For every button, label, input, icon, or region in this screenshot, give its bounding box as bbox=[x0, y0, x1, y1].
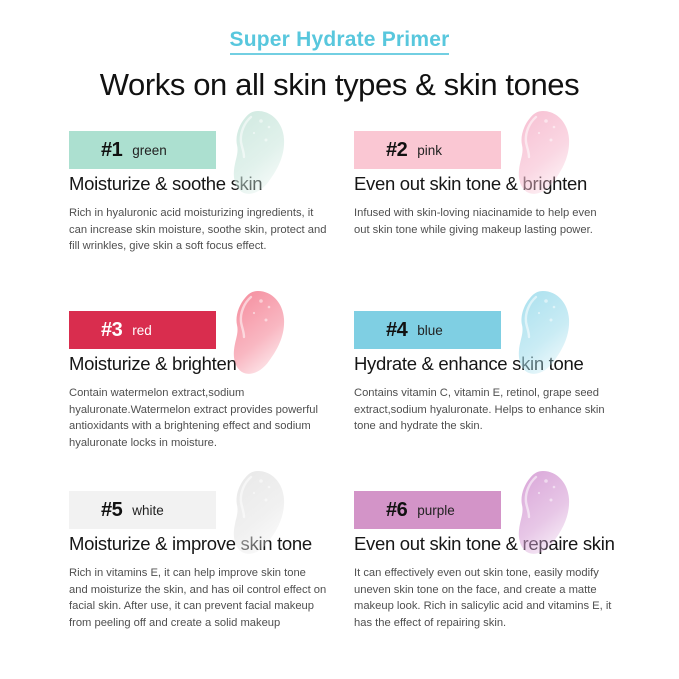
card-color-name: green bbox=[132, 143, 167, 158]
card-description: Infused with skin-loving niacinamide to … bbox=[354, 205, 612, 238]
card-description: Rich in vitamins E, it can help improve … bbox=[69, 565, 327, 631]
color-label-bar: #6purple bbox=[354, 491, 501, 529]
benefit-card: #2pinkEven out skin tone & brightenInfus… bbox=[354, 113, 639, 293]
benefit-card: #1greenMoisturize & soothe skinRich in h… bbox=[69, 113, 354, 293]
card-number: #6 bbox=[386, 499, 407, 522]
card-title: Even out skin tone & repaire skin bbox=[354, 533, 639, 554]
card-title: Moisturize & improve skin tone bbox=[69, 533, 354, 554]
card-label-row: #4blue bbox=[354, 293, 639, 351]
page-title: Works on all skin types & skin tones bbox=[0, 68, 679, 103]
benefit-card: #4blueHydrate & enhance skin toneContain… bbox=[354, 293, 639, 473]
color-label-bar: #1green bbox=[69, 131, 216, 169]
card-title: Moisturize & soothe skin bbox=[69, 173, 354, 194]
card-color-name: pink bbox=[417, 143, 442, 158]
card-number: #4 bbox=[386, 319, 407, 342]
card-description: It can effectively even out skin tone, e… bbox=[354, 565, 612, 631]
color-label-bar: #5white bbox=[69, 491, 216, 529]
benefit-card: #3redMoisturize & brightenContain waterm… bbox=[69, 293, 354, 473]
brand-title: Super Hydrate Primer bbox=[230, 28, 450, 55]
card-number: #3 bbox=[101, 319, 122, 342]
infographic-page: Super Hydrate Primer Works on all skin t… bbox=[0, 0, 679, 679]
card-label-row: #5white bbox=[69, 473, 354, 531]
card-label-row: #2pink bbox=[354, 113, 639, 171]
card-number: #5 bbox=[101, 499, 122, 522]
card-number: #2 bbox=[386, 139, 407, 162]
card-number: #1 bbox=[101, 139, 122, 162]
card-description: Rich in hyaluronic acid moisturizing ing… bbox=[69, 205, 327, 255]
card-description: Contains vitamin C, vitamin E, retinol, … bbox=[354, 385, 612, 435]
benefit-card: #6purpleEven out skin tone & repaire ski… bbox=[354, 473, 639, 653]
color-label-bar: #2pink bbox=[354, 131, 501, 169]
header: Super Hydrate Primer Works on all skin t… bbox=[0, 0, 679, 103]
benefit-card-grid: #1greenMoisturize & soothe skinRich in h… bbox=[0, 113, 679, 653]
benefit-card: #5whiteMoisturize & improve skin toneRic… bbox=[69, 473, 354, 653]
card-title: Hydrate & enhance skin tone bbox=[354, 353, 639, 374]
card-color-name: red bbox=[132, 323, 152, 338]
card-title: Even out skin tone & brighten bbox=[354, 173, 639, 194]
card-color-name: white bbox=[132, 503, 164, 518]
card-label-row: #1green bbox=[69, 113, 354, 171]
card-label-row: #3red bbox=[69, 293, 354, 351]
card-title: Moisturize & brighten bbox=[69, 353, 354, 374]
card-color-name: blue bbox=[417, 323, 443, 338]
card-color-name: purple bbox=[417, 503, 455, 518]
card-label-row: #6purple bbox=[354, 473, 639, 531]
color-label-bar: #4blue bbox=[354, 311, 501, 349]
card-description: Contain watermelon extract,sodium hyalur… bbox=[69, 385, 327, 451]
color-label-bar: #3red bbox=[69, 311, 216, 349]
